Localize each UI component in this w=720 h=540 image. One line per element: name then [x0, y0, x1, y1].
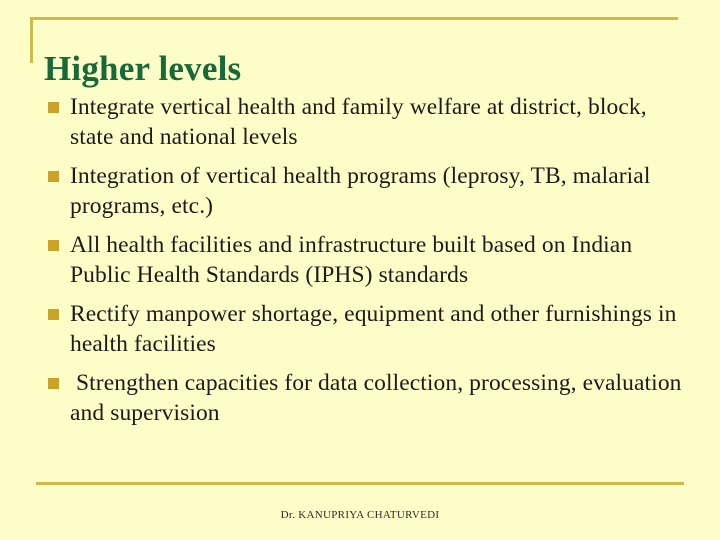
list-item: All health facilities and infrastructure…: [44, 230, 692, 290]
square-bullet-icon: [48, 102, 59, 113]
list-item: Strengthen capacities for data collectio…: [44, 368, 692, 428]
title-top-rule: [30, 17, 678, 20]
list-item-text: Integration of vertical health programs …: [70, 161, 692, 221]
footer-author: Dr. KANUPRIYA CHATURVEDI: [0, 508, 720, 522]
list-item: Integrate vertical health and family wel…: [44, 92, 692, 152]
square-bullet-icon: [48, 378, 59, 389]
page-title: Higher levels: [44, 49, 241, 89]
square-bullet-icon: [48, 309, 59, 320]
list-item: Integration of vertical health programs …: [44, 161, 692, 221]
list-item-text: All health facilities and infrastructure…: [70, 230, 692, 290]
bullet-list: Integrate vertical health and family wel…: [44, 92, 692, 428]
list-item-text: Strengthen capacities for data collectio…: [70, 368, 692, 428]
list-item-text: Integrate vertical health and family wel…: [70, 92, 692, 152]
footer-rule: [36, 482, 684, 485]
list-item: Rectify manpower shortage, equipment and…: [44, 299, 692, 359]
list-item-text: Rectify manpower shortage, equipment and…: [70, 299, 692, 359]
presentation-slide: Higher levels Integrate vertical health …: [0, 0, 720, 540]
square-bullet-icon: [48, 240, 59, 251]
title-left-rule: [30, 17, 33, 63]
square-bullet-icon: [48, 171, 59, 182]
